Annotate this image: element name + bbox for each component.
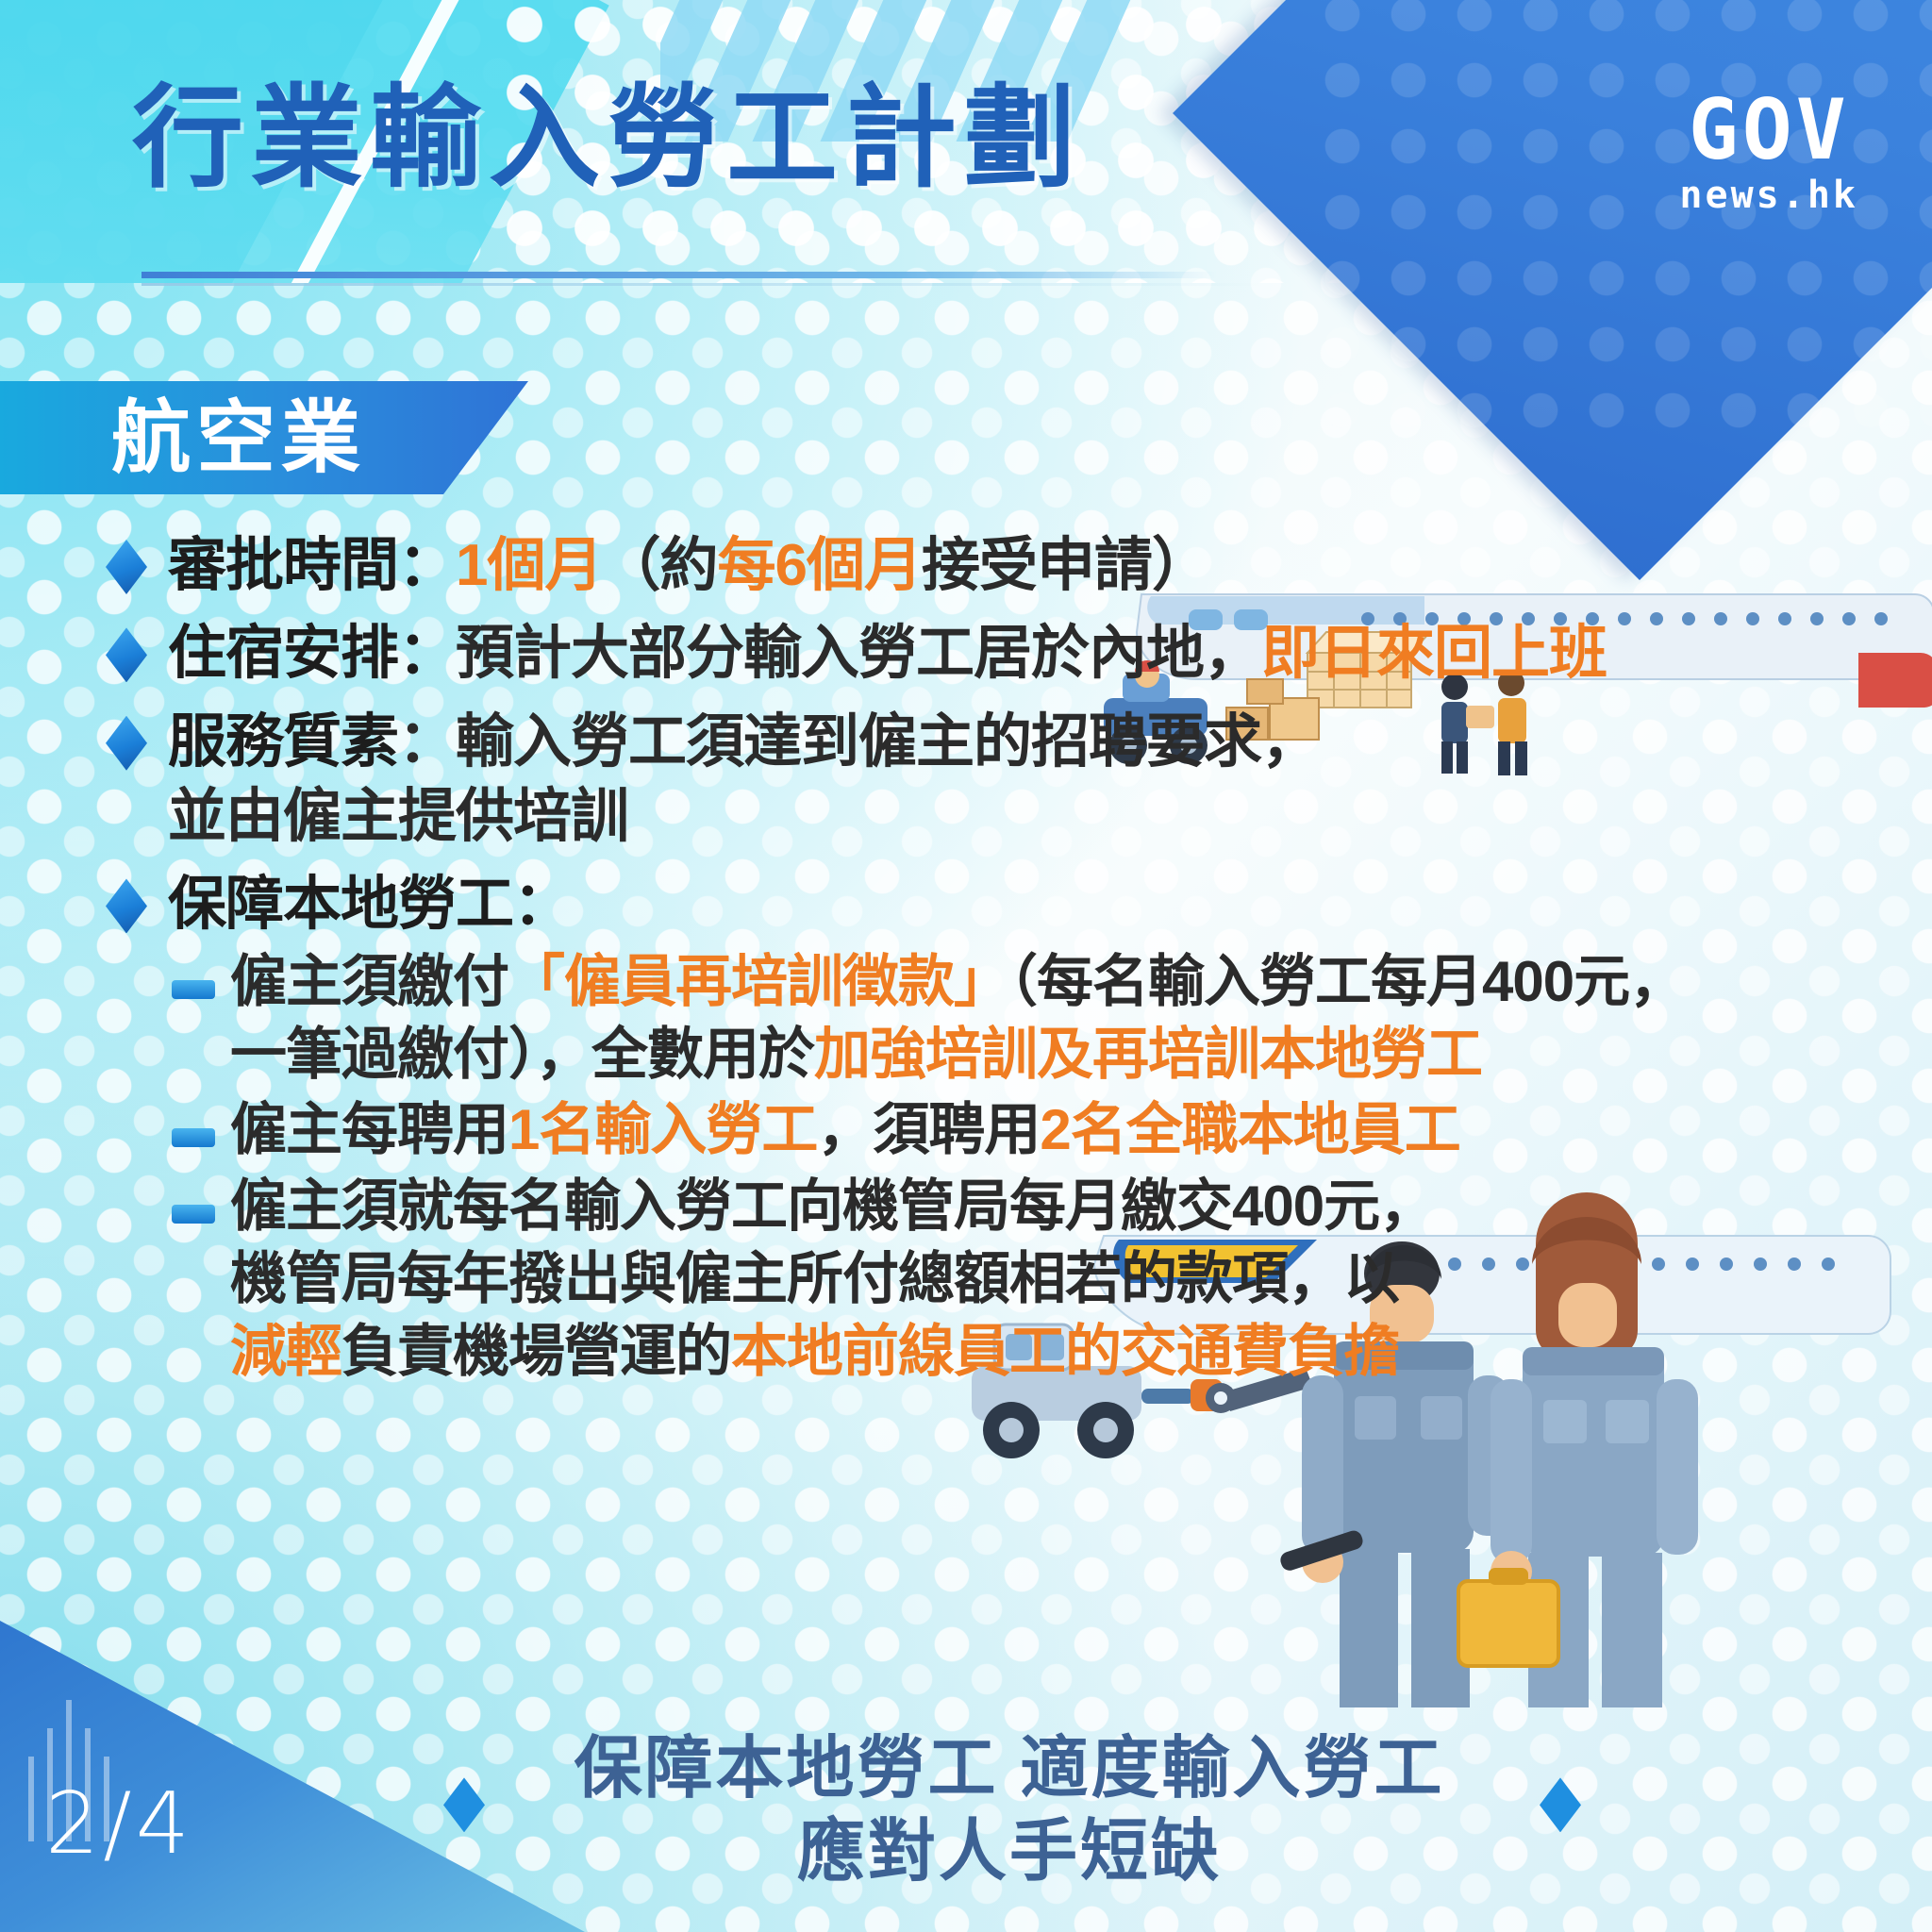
bullet-service-quality-text: 服務質素：輸入勞工須達到僱主的招聘要求，並由僱主提供培訓 (168, 705, 1319, 855)
sub-item-retraining-levy-text: 僱主須繳付「僱員再培訓徵款」（每名輸入勞工每月400元，一筆過繳付），全數用於加… (230, 946, 1685, 1091)
page-title: 行業輸入勞工計劃 (132, 81, 1083, 198)
plain-text: 接受申請） (922, 533, 1209, 598)
diamond-bullet-icon (106, 716, 147, 771)
slogan-diamond-right-icon (1540, 1777, 1581, 1832)
logo-newshk-text: news.hk (1679, 174, 1858, 217)
sub-item-airport-authority-levy-text: 僱主須就每名輸入勞工向機管局每月繳交400元，機管局每年撥出與僱主所付總額相若的… (230, 1171, 1435, 1388)
highlight-frontline-transport: 本地前線員工的交通費負擔 (731, 1320, 1399, 1383)
bullet-list: 審批時間：1個月（約每6個月接受申請） 住宿安排：預計大部分輸入勞工居於內地，即… (106, 528, 1879, 1392)
sector-label: 航空業 (111, 398, 366, 477)
bullet-label: 住宿安排： (168, 621, 456, 686)
sub-item-retraining-levy: 僱主須繳付「僱員再培訓徵款」（每名輸入勞工每月400元，一筆過繳付），全數用於加… (106, 946, 1879, 1091)
dash-bullet-icon (172, 980, 215, 999)
diamond-bullet-icon (106, 878, 147, 933)
highlight-levy-name: 「僱員再培訓徵款」 (508, 950, 1009, 1013)
header-underline-secondary (142, 283, 1264, 286)
slogan-line-1: 保障本地勞工 適度輸入勞工 (491, 1728, 1528, 1811)
highlight-daily-commute: 即日來回上班 (1261, 621, 1607, 686)
dash-bullet-icon (172, 1128, 215, 1147)
highlight-reduce: 減輕 (230, 1320, 341, 1383)
bullet-service-quality: 服務質素：輸入勞工須達到僱主的招聘要求，並由僱主提供培訓 (106, 705, 1879, 855)
plain-text: 負責機場營運的 (341, 1320, 731, 1383)
bullet-label: 服務質素 (168, 709, 398, 774)
plain-text: 預計大部分輸入勞工居於內地， (456, 621, 1261, 686)
bullet-label: 保障本地勞工： (168, 872, 571, 937)
bullet-label: 審批時間： (168, 533, 456, 598)
bullet-accommodation: 住宿安排：預計大部分輸入勞工居於內地，即日來回上班 (106, 616, 1879, 691)
plain-text: 一筆過繳付），全數用於 (230, 1023, 814, 1086)
highlight-duration: 1個月 (456, 533, 602, 598)
bullet-approval-time-text: 審批時間：1個月（約每6個月接受申請） (168, 528, 1209, 603)
highlight-training-use: 加強培訓及再培訓本地勞工 (814, 1023, 1482, 1086)
sub-item-hiring-ratio-text: 僱主每聘用1名輸入勞工，須聘用2名全職本地員工 (230, 1094, 1460, 1167)
bullet-approval-time: 審批時間：1個月（約每6個月接受申請） (106, 528, 1879, 603)
diamond-bullet-icon (106, 627, 147, 682)
plain-text: ：輸入勞工須達到僱主的招聘要求， (398, 709, 1319, 774)
highlight-imported-count: 1名輸入勞工 (508, 1098, 817, 1161)
plain-text: 僱主每聘用 (230, 1098, 508, 1161)
bullet-service-quality-continuation: 並由僱主提供培訓 (168, 784, 628, 849)
page-indicator: 2/4 (45, 1774, 193, 1874)
sub-item-airport-authority-levy: 僱主須就每名輸入勞工向機管局每月繳交400元，機管局每年撥出與僱主所付總額相若的… (106, 1171, 1879, 1388)
diamond-bullet-icon (106, 540, 147, 594)
bullet-protect-local-workers: 保障本地勞工： (106, 867, 1879, 941)
logo-dot-texture (1309, 0, 1932, 443)
plain-text: ，須聘用 (817, 1098, 1040, 1161)
plain-text: 機管局每年撥出與僱主所付總額相若的款項，以 (230, 1247, 1399, 1310)
slogan-line-2: 應對人手短缺 (491, 1811, 1528, 1894)
highlight-frequency: 每6個月 (718, 533, 922, 598)
plain-text: （約 (603, 533, 718, 598)
infographic-poster: GOV news.hk 行業輸入勞工計劃 航空業 (0, 0, 1932, 1932)
sub-item-hiring-ratio: 僱主每聘用1名輸入勞工，須聘用2名全職本地員工 (106, 1094, 1879, 1167)
highlight-local-count: 2名全職本地員工 (1040, 1098, 1459, 1161)
bullet-protect-local-workers-text: 保障本地勞工： (168, 867, 571, 941)
gov-news-logo[interactable]: GOV news.hk (1679, 91, 1858, 217)
plain-text: （每名輸入勞工每月400元， (1009, 950, 1685, 1013)
header-underline (142, 272, 1217, 278)
slogan-diamond-left-icon (443, 1777, 485, 1832)
footer-slogan: 保障本地勞工 適度輸入勞工 應對人手短缺 (491, 1728, 1528, 1894)
logo-gov-text: GOV (1679, 91, 1858, 170)
dash-bullet-icon (172, 1205, 215, 1224)
plain-text: 僱主須繳付 (230, 950, 508, 1013)
sector-banner: 航空業 (0, 381, 528, 494)
plain-text: 僱主須就每名輸入勞工向機管局每月繳交400元， (230, 1174, 1435, 1238)
bullet-accommodation-text: 住宿安排：預計大部分輸入勞工居於內地，即日來回上班 (168, 616, 1607, 691)
